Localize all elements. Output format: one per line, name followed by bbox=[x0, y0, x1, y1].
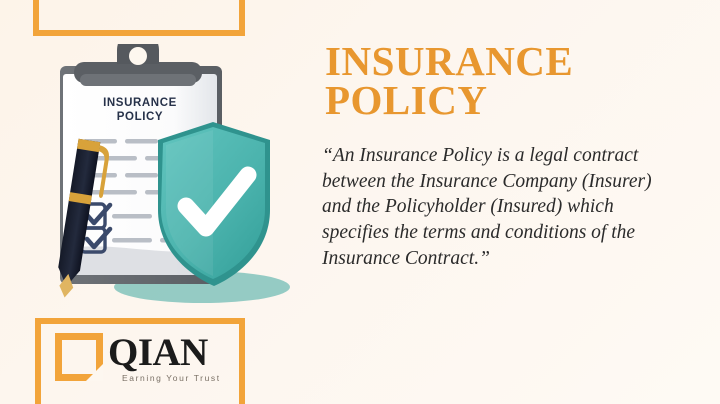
svg-text:POLICY: POLICY bbox=[117, 111, 163, 123]
brand-name: QIAN bbox=[108, 333, 221, 372]
logo-text-block: QIAN Earning Your Trust bbox=[108, 333, 221, 383]
page-title: INSURANCE POLICY bbox=[325, 42, 665, 121]
brand-logo[interactable]: QIAN Earning Your Trust bbox=[55, 333, 221, 383]
policy-quote: “An Insurance Policy is a legal contract… bbox=[322, 143, 672, 272]
brand-tagline: Earning Your Trust bbox=[122, 374, 221, 383]
insurance-illustration: INSURANCE POLICY bbox=[42, 44, 294, 306]
headline-line-2: POLICY bbox=[325, 81, 665, 120]
svg-text:INSURANCE: INSURANCE bbox=[103, 97, 177, 109]
poster-canvas: INSURANCE POLICY bbox=[0, 0, 720, 404]
logo-square-icon bbox=[55, 333, 103, 381]
decorative-frame-top bbox=[33, 0, 245, 36]
